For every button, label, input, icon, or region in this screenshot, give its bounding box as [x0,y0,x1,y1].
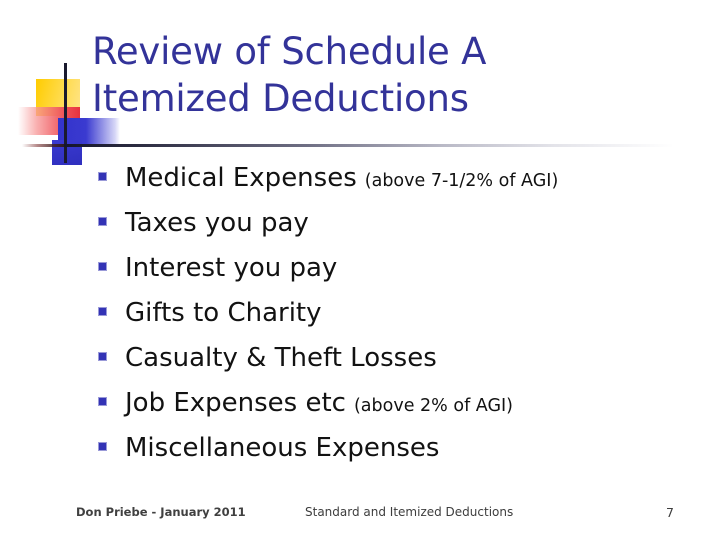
slide-title: Review of Schedule A Itemized Deductions [92,28,692,122]
list-item-label: Medical Expenses [125,163,357,193]
vertical-crosshair-line-icon [64,63,67,163]
bullet-square-icon [98,172,107,181]
title-underline-rule [64,144,674,147]
list-item-label: Job Expenses etc [125,388,346,418]
list-item-label: Gifts to Charity [125,298,322,328]
list-item: Taxes you pay [98,208,698,253]
slide-footer: Don Priebe - January 2011 Standard and I… [0,505,720,527]
list-item-note: (above 7-1/2% of AGI) [365,171,559,191]
list-item: Miscellaneous Expenses [98,433,698,478]
bullet-square-icon [98,307,107,316]
list-item-label: Casualty & Theft Losses [125,343,437,373]
list-item: Interest you pay [98,253,698,298]
bullet-square-icon [98,442,107,451]
list-item-label: Taxes you pay [125,208,309,238]
list-item-label: Miscellaneous Expenses [125,433,439,463]
list-item-note: (above 2% of AGI) [354,396,513,416]
list-item: Gifts to Charity [98,298,698,343]
list-item-label: Interest you pay [125,253,337,283]
bullet-square-icon [98,397,107,406]
footer-deck-title: Standard and Itemized Deductions [305,505,513,519]
bullet-square-icon [98,217,107,226]
list-item: Medical Expenses (above 7-1/2% of AGI) [98,163,698,208]
bullet-list: Medical Expenses (above 7-1/2% of AGI) T… [98,163,698,478]
list-item: Casualty & Theft Losses [98,343,698,388]
bullet-square-icon [98,262,107,271]
list-item: Job Expenses etc (above 2% of AGI) [98,388,698,433]
bullet-square-icon [98,352,107,361]
slide-canvas: Review of Schedule A Itemized Deductions… [0,0,720,539]
footer-page-number: 7 [666,505,674,520]
title-line-1: Review of Schedule A [92,28,692,75]
title-underline-stub [22,144,66,147]
footer-author: Don Priebe - January 2011 [76,505,246,519]
title-line-2: Itemized Deductions [92,75,692,122]
